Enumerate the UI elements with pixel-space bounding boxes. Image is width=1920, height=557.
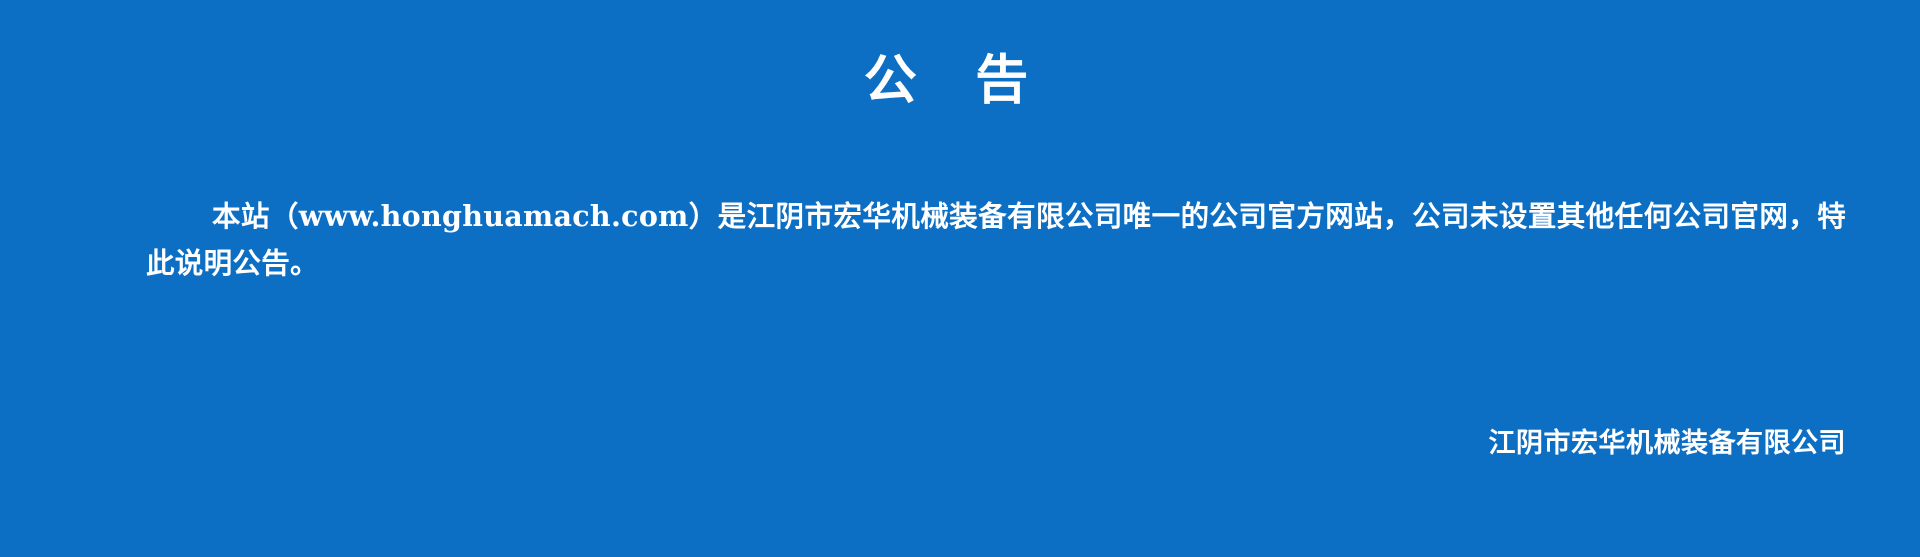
page-title: 公 告 <box>0 46 1906 116</box>
company-signature: 江阴市宏华机械装备有限公司 <box>1489 424 1847 464</box>
signature-row: 江阴市宏华机械装备有限公司 <box>146 424 1846 464</box>
announcement-body-text: 本站（www.honghuamach.com）是江阴市宏华机械装备有限公司唯一的… <box>146 193 1846 287</box>
announcement-page: 公 告 本站（www.honghuamach.com）是江阴市宏华机械装备有限公… <box>0 0 1920 557</box>
